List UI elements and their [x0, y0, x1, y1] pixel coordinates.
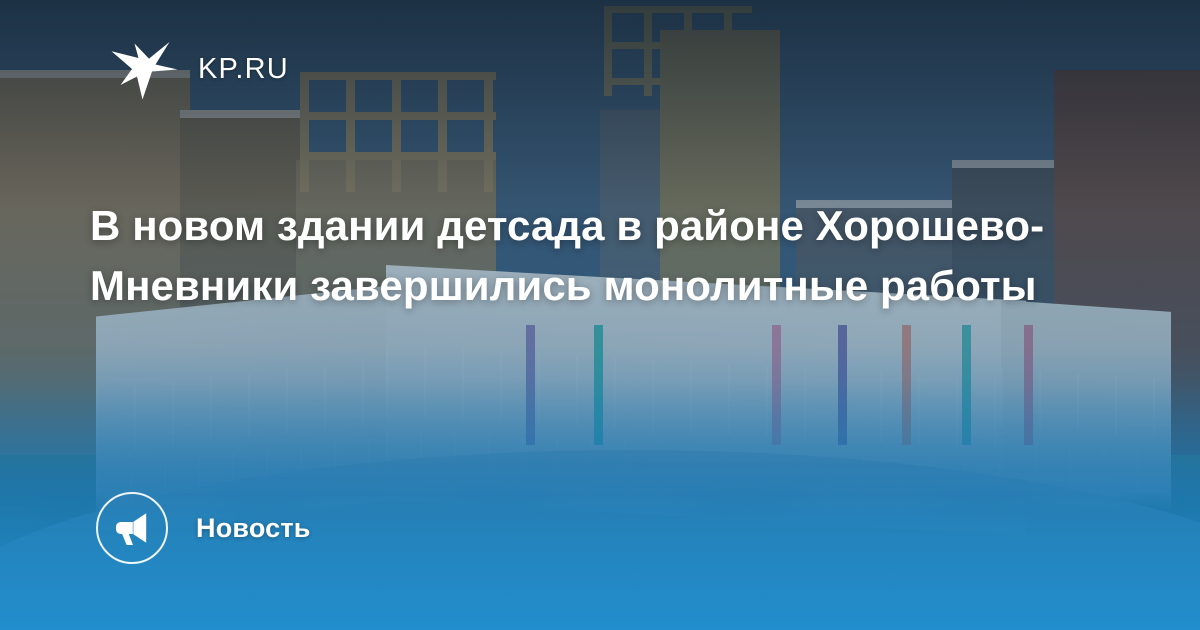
- status-badge[interactable]: Новость: [96, 492, 311, 564]
- page-title: В новом здании детсада в районе Хорошево…: [90, 196, 1090, 315]
- badge-circle: [96, 492, 168, 564]
- swallow-bird-icon: [108, 38, 180, 100]
- brand-lockup[interactable]: KP.RU: [108, 38, 289, 100]
- badge-label: Новость: [196, 513, 311, 544]
- card-content: KP.RU В новом здании детсада в районе Хо…: [0, 0, 1200, 630]
- megaphone-icon: [113, 509, 151, 547]
- social-share-card: KP.RU В новом здании детсада в районе Хо…: [0, 0, 1200, 630]
- brand-wordmark: KP.RU: [198, 55, 289, 84]
